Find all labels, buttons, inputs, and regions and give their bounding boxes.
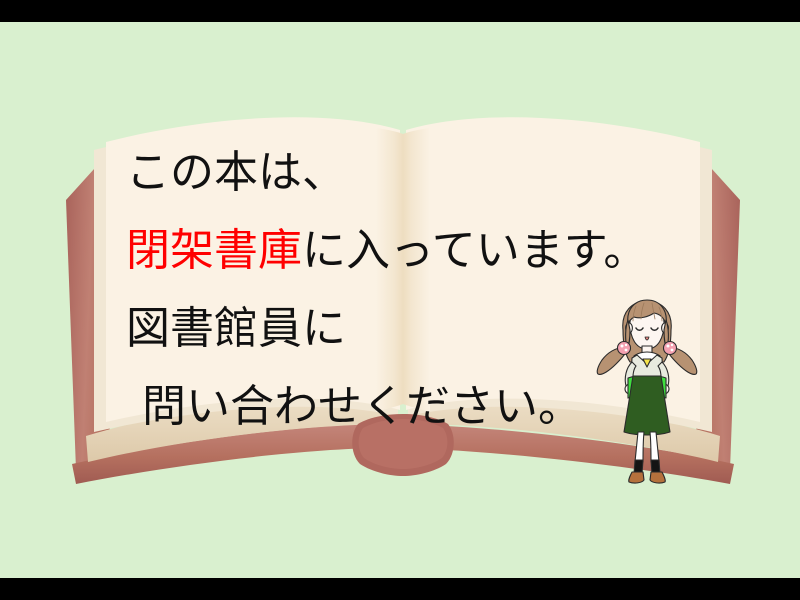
notice-line-4-text: 問い合わせください。 xyxy=(142,381,582,432)
hair-tie-right xyxy=(664,342,677,355)
leg-right xyxy=(650,432,659,462)
shoe-left xyxy=(629,472,644,483)
letterbox-top xyxy=(0,0,800,22)
shoe-right xyxy=(650,472,665,483)
notice-line-3-text: 図書館員に xyxy=(126,303,346,354)
letterbox-bottom xyxy=(0,578,800,600)
hair-tie-left xyxy=(618,342,631,355)
librarian-girl-illustration xyxy=(592,290,702,490)
leg-left xyxy=(635,432,644,462)
notice-line-2: 閉架書庫に入っています。 xyxy=(126,212,726,290)
slide-stage: この本は、 閉架書庫に入っています。 図書館員に 問い合わせください。 xyxy=(0,22,800,578)
slide-canvas: この本は、 閉架書庫に入っています。 図書館員に 問い合わせください。 xyxy=(0,0,800,600)
closed-stacks-highlight: 閉架書庫 xyxy=(126,225,302,276)
notice-line-1: この本は、 xyxy=(126,134,726,212)
notice-line-1-text: この本は、 xyxy=(126,147,346,198)
notice-line-2-text: に入っています。 xyxy=(302,225,647,276)
